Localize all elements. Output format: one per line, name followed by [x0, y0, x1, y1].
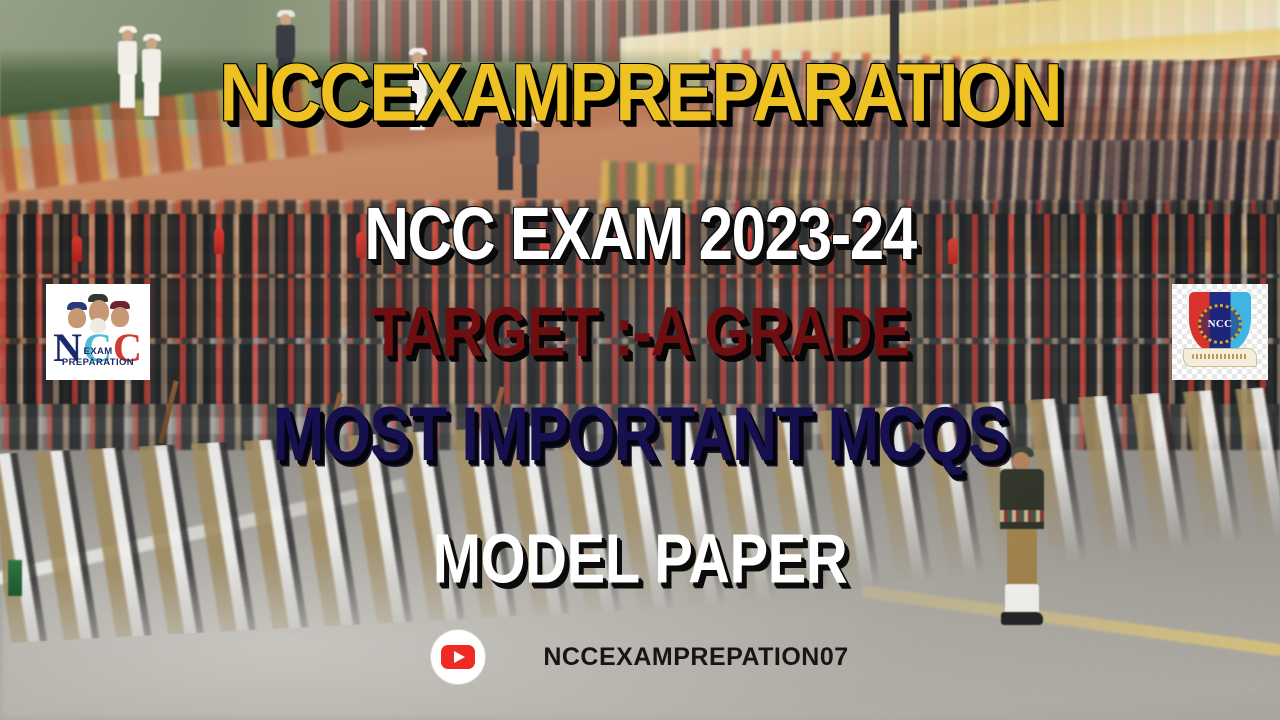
youtube-thumbnail: NCCEXAMPREPARATION NCC EXAM 2023-24 TARG… [0, 0, 1280, 720]
text-overlay: NCCEXAMPREPARATION NCC EXAM 2023-24 TARG… [0, 0, 1280, 720]
ncc-crest-icon: NCC [1172, 284, 1268, 380]
headline-model-paper: MODEL PAPER [0, 525, 1280, 595]
crest-laurel-wreath: NCC [1198, 304, 1242, 344]
logo-tagline: EXAM PREPARATION [46, 346, 150, 368]
youtube-play-icon[interactable] [431, 630, 485, 684]
youtube-badge [441, 645, 475, 669]
play-triangle-icon [454, 651, 465, 663]
crest-ncc-text: NCC [1208, 318, 1233, 330]
headline-exam-year: NCC EXAM 2023-24 [0, 198, 1280, 272]
ncc-exam-preparation-logo: NCC EXAM PREPARATION [46, 284, 150, 380]
crest-ribbon [1183, 348, 1257, 367]
headline-target-grade: TARGET :-A GRADE [0, 298, 1280, 368]
channel-title: NCCEXAMPREPARATION [0, 52, 1280, 134]
channel-footer: NCCEXAMPREPATION07 [0, 630, 1280, 684]
headline-important-mcqs: MOST IMPORTANT MCQS [0, 398, 1280, 474]
channel-handle: NCCEXAMPREPATION07 [543, 643, 848, 672]
